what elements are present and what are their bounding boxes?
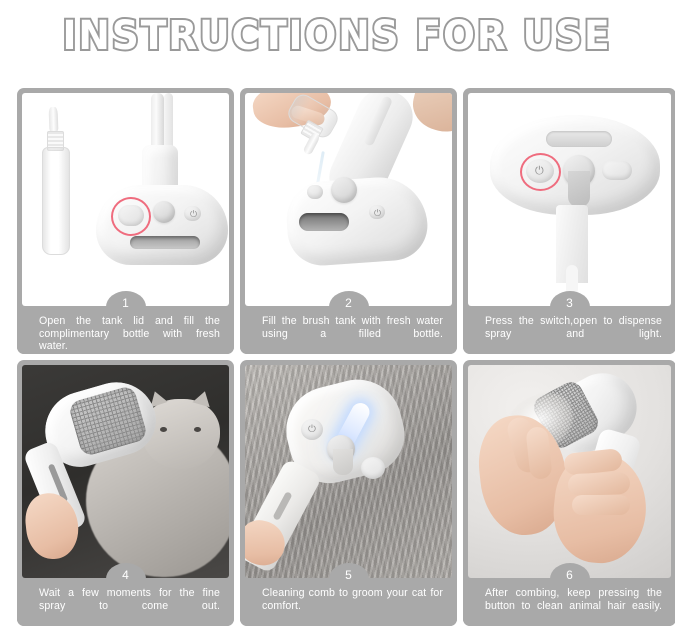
highlight-ring-icon (111, 197, 151, 236)
scene-filling-tank: ⏻ (245, 93, 452, 306)
scene-spray-on-cat (22, 365, 229, 578)
tank-cap-knob[interactable] (331, 177, 357, 203)
side-button[interactable] (602, 161, 632, 180)
step-card-2[interactable]: ⏻ 2 Fill the brush tank with fresh water… (240, 88, 457, 354)
scene-grooming-fur: ⏻ (245, 365, 452, 578)
bottle-tip (49, 107, 59, 133)
step-card-1[interactable]: ⏻ 1 Open the tank lid and fill the compl… (17, 88, 234, 354)
power-icon: ⏻ (190, 210, 197, 219)
power-icon: ⏻ (374, 209, 381, 218)
step-caption-text: Fill the brush tank with fresh water usi… (262, 315, 443, 353)
led-window (546, 131, 612, 147)
scene-bottle-and-base: ⏻ (22, 93, 229, 306)
step-4-photo (22, 365, 229, 578)
step-1-photo: ⏻ (22, 93, 229, 306)
water-tank-window (130, 236, 200, 249)
step-2-photo: ⏻ (245, 93, 452, 306)
steps-grid: ⏻ 1 Open the tank lid and fill the compl… (17, 88, 671, 626)
instructions-page: INSTRUCTIONS FOR USE (0, 0, 675, 639)
step-card-4[interactable]: 4 Wait a few moments for the fine spray … (17, 360, 234, 626)
page-title-container: INSTRUCTIONS FOR USE (0, 0, 675, 72)
step-caption-text: Cleaning comb to groom your cat for comf… (262, 587, 443, 625)
highlight-ring-icon (520, 153, 561, 191)
step-6-photo (468, 365, 671, 578)
step-5-photo: ⏻ (245, 365, 452, 578)
step-caption-text: Press the switch,open to dispense spray … (485, 315, 662, 353)
scene-power-switch: ⏻ (468, 93, 671, 306)
side-button[interactable] (361, 457, 385, 479)
step-1-caption-bar: Open the tank lid and fill the complimen… (17, 306, 234, 354)
step-card-3[interactable]: ⏻ 3 Press the switch,open to dispense sp… (463, 88, 675, 354)
finger (568, 472, 631, 496)
device-knob[interactable] (153, 201, 175, 223)
water-tank-window (299, 213, 349, 231)
step-card-5[interactable]: ⏻ 5 Cleaning comb to groom your cat for … (240, 360, 457, 626)
page-title: INSTRUCTIONS FOR USE (63, 14, 612, 58)
finger (572, 495, 630, 515)
step-caption-text: Wait a few moments for the fine spray to… (39, 587, 220, 625)
step-3-caption-bar: Press the switch,open to dispense spray … (463, 306, 675, 354)
step-card-6[interactable]: 6 After combing, keep pressing the butto… (463, 360, 675, 626)
step-2-caption-bar: Fill the brush tank with fresh water usi… (240, 306, 457, 354)
knob-stem (333, 449, 353, 475)
water-mist (140, 469, 229, 573)
step-3-photo: ⏻ (468, 93, 671, 306)
hand (408, 93, 452, 137)
step-6-caption-bar: After combing, keep pressing the button … (463, 578, 675, 626)
knob-stem (568, 171, 590, 207)
power-icon: ⏻ (308, 425, 316, 435)
step-5-caption-bar: Cleaning comb to groom your cat for comf… (240, 578, 457, 626)
step-caption-text: Open the tank lid and fill the complimen… (39, 315, 220, 354)
bottle-body (42, 147, 70, 255)
scene-cleaning-brush (468, 365, 671, 578)
tank-lid-button[interactable] (307, 185, 323, 199)
step-4-caption-bar: Wait a few moments for the fine spray to… (17, 578, 234, 626)
step-caption-text: After combing, keep pressing the button … (485, 587, 662, 625)
